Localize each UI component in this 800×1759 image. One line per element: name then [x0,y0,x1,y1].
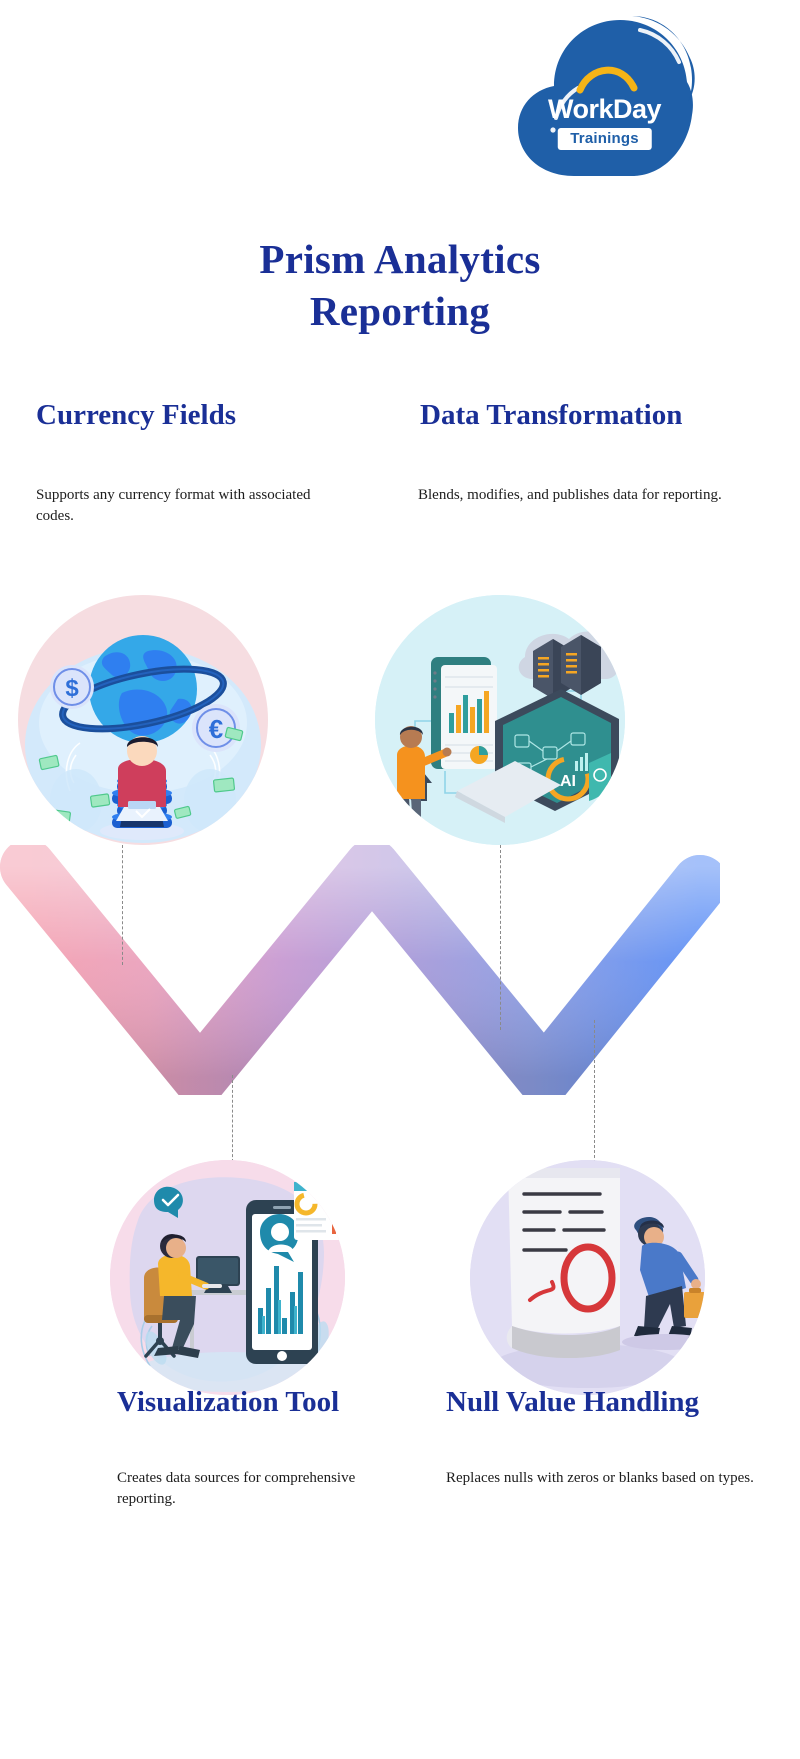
feature-body-data-transformation: Blends, modifies, and publishes data for… [418,485,738,506]
feature-heading-data-transformation: Data Transformation [420,395,740,436]
dotted-connector-line [232,1075,233,1167]
document-icon [507,1168,620,1358]
logo-wordmark: WorkDay [512,96,697,123]
dotted-connector-line [594,1020,595,1168]
dotted-connector-line [500,845,501,1030]
svg-text:€: € [209,714,223,744]
dashboard-analytics-illustration [110,1160,345,1395]
workday-trainings-logo: WorkDay Trainings [512,8,697,178]
logo-badge: Trainings [557,128,651,150]
feature-heading-null-value-handling: Null Value Handling [446,1382,756,1423]
svg-text:AI: AI [560,773,576,790]
feature-body-null-value-handling: Replaces nulls with zeros or blanks base… [446,1468,756,1489]
document-null-check-illustration [470,1160,705,1395]
svg-text:$: $ [65,675,79,702]
page-title-line1: Prism Analytics [259,236,540,282]
page-title: Prism Analytics Reporting [0,234,800,337]
report-card-icon [294,1182,345,1240]
feature-body-visualization-tool: Creates data sources for comprehensive r… [117,1468,417,1511]
ai-data-pipeline-illustration: AI [375,595,625,845]
w-chevron-graphic [0,845,720,1095]
dollar-coin-icon: $ [50,665,94,709]
feature-body-currency-fields: Supports any currency format with associ… [36,485,336,528]
dotted-connector-line [122,845,123,965]
page-title-line2: Reporting [0,286,800,337]
cloud-icon [512,8,697,178]
feature-heading-visualization-tool: Visualization Tool [117,1382,417,1423]
globe-currency-illustration: $ € [18,595,268,845]
feature-heading-currency-fields: Currency Fields [36,395,336,436]
